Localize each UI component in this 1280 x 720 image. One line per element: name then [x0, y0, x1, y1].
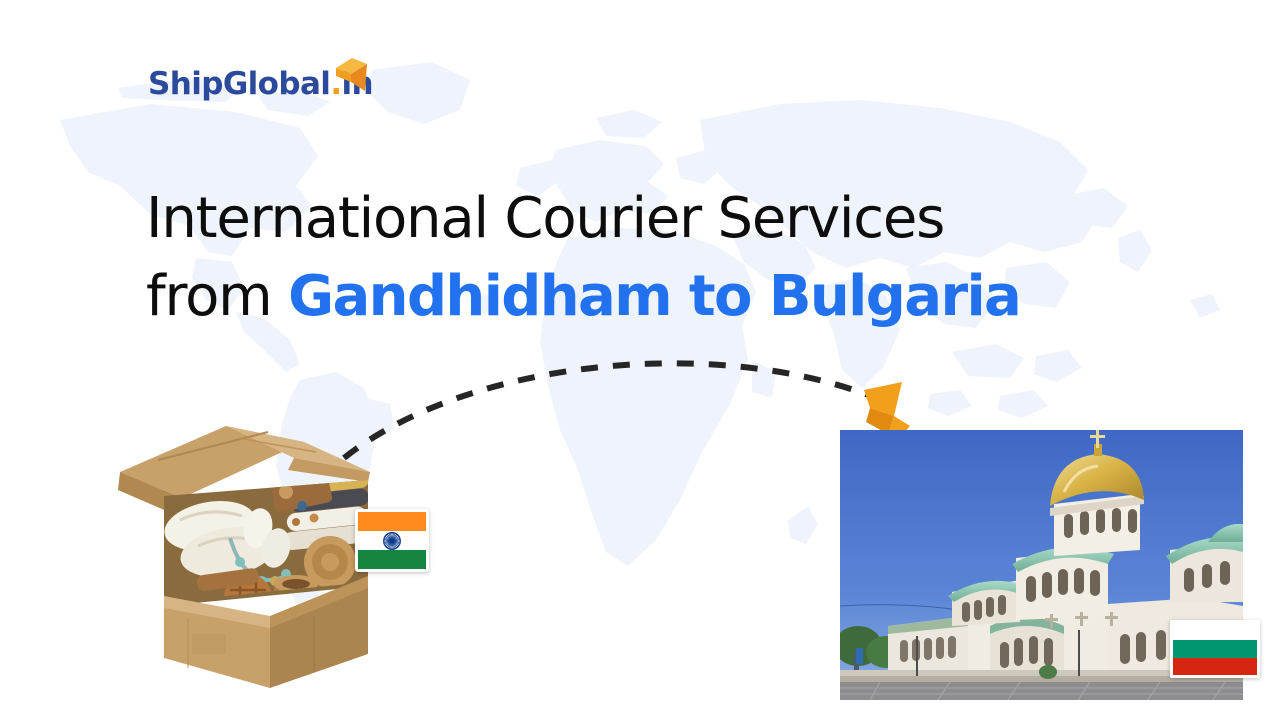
logo-text-ship: Ship	[148, 66, 223, 102]
headline-route: Gandhidham to Bulgaria	[288, 264, 1020, 329]
logo-text-global: Global	[223, 66, 331, 102]
headline-from-label: from	[146, 264, 288, 329]
orange-cube-arrow-icon	[334, 58, 368, 94]
ashoka-chakra-icon	[383, 531, 402, 550]
india-flag-green-band	[358, 550, 426, 569]
india-flag-saffron-band	[358, 512, 426, 531]
headline-line-1: International Courier Services	[146, 180, 1156, 258]
bulgaria-flag-green-band	[1173, 640, 1257, 657]
courier-service-banner: ShipGlobal.in International Courier Serv…	[0, 0, 1280, 720]
page-title: International Courier Services from Gand…	[146, 180, 1156, 336]
bulgaria-flag-red-band	[1173, 658, 1257, 675]
bulgaria-flag	[1170, 620, 1260, 678]
headline-line-2: from Gandhidham to Bulgaria	[146, 258, 1156, 336]
open-cardboard-parcel-with-indian-handicrafts	[118, 420, 390, 688]
india-flag	[355, 509, 429, 572]
shipglobal-logo[interactable]: ShipGlobal.in	[148, 58, 388, 114]
bulgaria-flag-white-band	[1173, 623, 1257, 640]
